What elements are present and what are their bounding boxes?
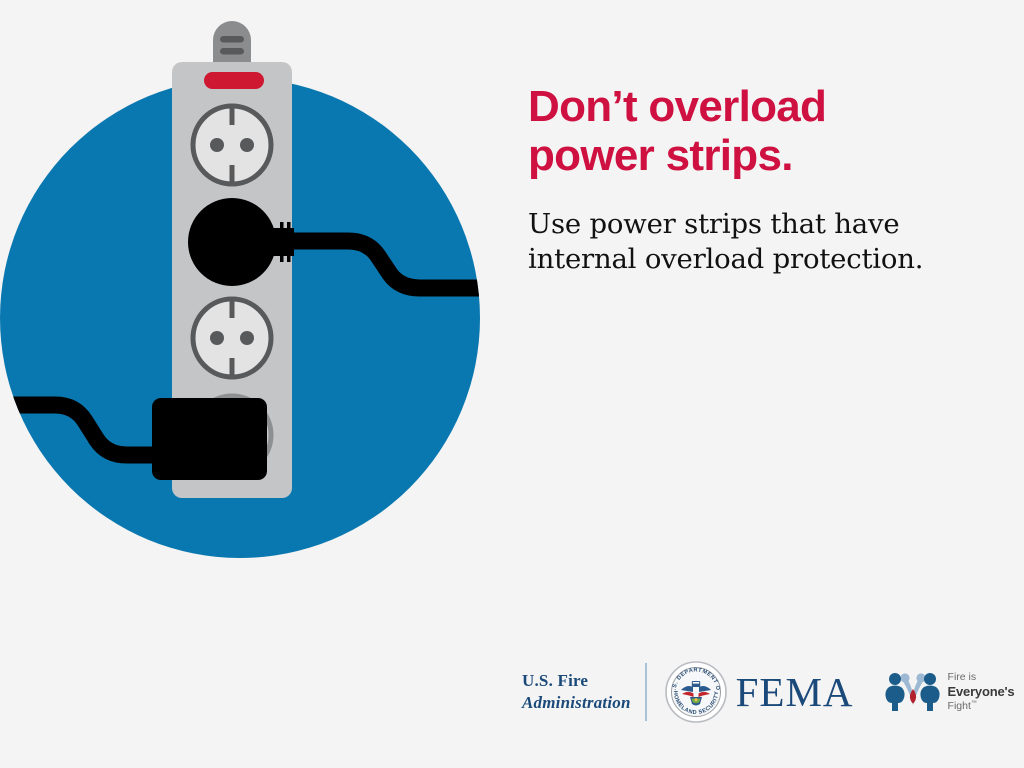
subheadline: Use power strips that have internal over… (528, 207, 998, 279)
fema-logo[interactable]: U.S. DEPARTMENT OF HOMELAND SECURITY (665, 661, 854, 723)
cap-vent-bar-bottom (220, 48, 244, 55)
usfa-logo-line2: Administration (522, 692, 631, 714)
message-block: Don’t overload power strips. Use power s… (528, 82, 998, 278)
feef-figures-icon (884, 667, 942, 717)
socket-outlet-1 (193, 106, 271, 184)
illustration-power-strip (0, 0, 520, 600)
footer-logo-bar: U.S. Fire Administration U.S. DEPARTMENT… (512, 648, 1012, 736)
power-strip-switch[interactable] (204, 72, 264, 89)
trademark-symbol: ™ (971, 700, 977, 706)
footer-divider (645, 663, 647, 721)
socket-outlet-3 (193, 299, 271, 377)
feef-text-block: Fire is Everyone's Fight™ (948, 671, 1015, 712)
power-strip-svg (0, 0, 520, 600)
feef-line2: Everyone's (948, 684, 1015, 700)
fema-wordmark: FEMA (736, 672, 854, 713)
feef-line3-word: Fight (948, 700, 971, 712)
feef-line1: Fire is (948, 671, 1015, 684)
usfa-logo[interactable]: U.S. Fire Administration (512, 670, 631, 714)
headline: Don’t overload power strips. (528, 82, 998, 181)
poster-canvas: Don’t overload power strips. Use power s… (0, 0, 1024, 768)
plug-block (152, 398, 267, 480)
feef-line3: Fight™ (948, 700, 1015, 713)
cap-vent-bar-top (220, 36, 244, 43)
usfa-logo-line1: U.S. Fire (522, 670, 631, 692)
dhs-seal-icon: U.S. DEPARTMENT OF HOMELAND SECURITY (665, 661, 727, 723)
fire-is-everyones-fight-logo[interactable]: Fire is Everyone's Fight™ (884, 667, 1015, 717)
